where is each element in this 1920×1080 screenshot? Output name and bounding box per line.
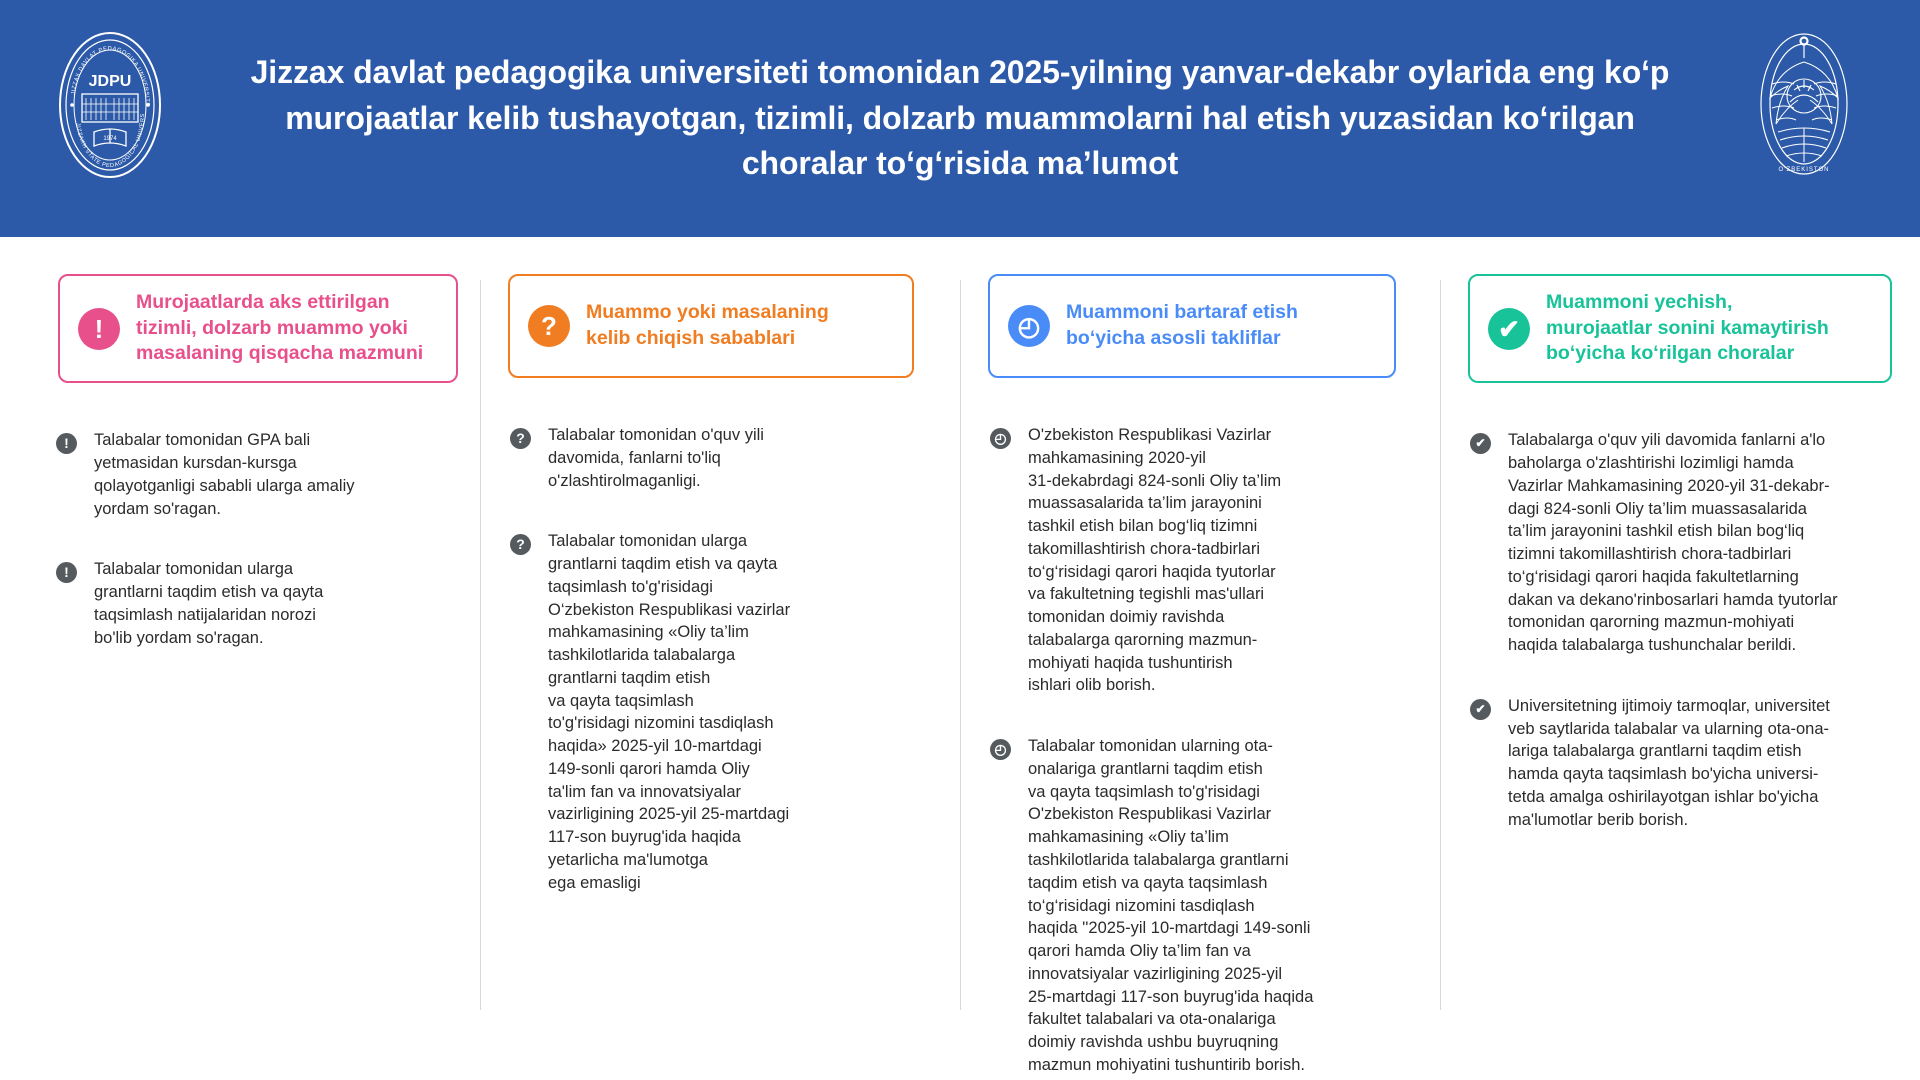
column-1: !Murojaatlarda aks ettirilgan tizimli, d… [0,274,480,1080]
uzbekistan-state-emblem-icon: O‘ZBEKISTON [1748,28,1860,180]
column-2: ?Muammo yoki masalaning kelib chiqish sa… [480,274,960,1080]
column-header-card-4[interactable]: ✔Muammoni yechish, murojaatlar sonini ka… [1468,274,1892,383]
column-items-1: !Talabalar tomonidan GPA bali yetmasidan… [0,383,480,649]
svg-text:JIZZAX DAVLAT PEDAGOGIKA UNIVE: JIZZAX DAVLAT PEDAGOGIKA UNIVERSITETI [56,30,150,107]
svg-text:1974: 1974 [103,136,117,142]
exclamation-icon: ! [56,433,77,454]
column-items-4: ✔Talabalarga o'quv yili davomida fanlarn… [1440,383,1920,831]
question-icon: ? [528,305,570,347]
list-item: ?Talabalar tomonidan o'quv yili davomida… [510,424,920,492]
column-items-3: ◴ O'zbekiston Respublikasi Vazirlar mahk… [960,378,1440,1077]
question-icon: ? [510,534,531,555]
column-title-4: Muammoni yechish, murojaatlar sonini kam… [1546,290,1829,367]
list-item-text: Talabalar tomonidan GPA bali yetmasidan … [94,429,355,520]
list-item-text: Talabalar tomonidan ularga grantlarni ta… [548,530,790,894]
check-circle-icon: ✔ [1470,699,1491,720]
column-title-2: Muammo yoki masalaning kelib chiqish sab… [586,300,829,351]
list-item: ◴ O'zbekiston Respublikasi Vazirlar mahk… [990,424,1410,697]
column-items-2: ?Talabalar tomonidan o'quv yili davomida… [480,378,960,895]
column-3: ◴Muammoni bartaraf etish bo‘yicha asosli… [960,274,1440,1080]
list-item: ✔ Universitetning ijtimoiy tarmoqlar, un… [1470,695,1892,832]
list-item: !Talabalar tomonidan GPA bali yetmasidan… [56,429,444,520]
page-title: Jizzax davlat pedagogika universiteti to… [220,50,1700,186]
clock-icon: ◴ [1008,305,1050,347]
column-divider [1440,280,1441,1010]
list-item: ? Talabalar tomonidan ularga grantlarni … [510,530,920,894]
list-item: !Talabalar tomonidan ularga grantlarni t… [56,558,444,649]
column-title-3: Muammoni bartaraf etish bo‘yicha asosli … [1066,300,1298,351]
content-board: !Murojaatlarda aks ettirilgan tizimli, d… [0,237,1920,1080]
check-circle-icon: ✔ [1488,308,1530,350]
column-header-card-1[interactable]: !Murojaatlarda aks ettirilgan tizimli, d… [58,274,458,383]
column-title-1: Murojaatlarda aks ettirilgan tizimli, do… [136,290,423,367]
list-item-text: Talabalar tomonidan ularga grantlarni ta… [94,558,323,649]
exclamation-icon: ! [78,308,120,350]
list-item-text: Universitetning ijtimoiy tarmoqlar, univ… [1508,695,1830,832]
column-divider [960,280,961,1010]
column-header-card-3[interactable]: ◴Muammoni bartaraf etish bo‘yicha asosli… [988,274,1396,378]
list-item-text: Talabalarga o'quv yili davomida fanlarni… [1508,429,1838,657]
list-item: ✔Talabalarga o'quv yili davomida fanlarn… [1470,429,1892,657]
question-icon: ? [510,428,531,449]
page-header: JDPU 1974 JIZZAX DAVLAT PEDAGOGIKA UNIVE… [0,0,1920,237]
svg-text:JDPU: JDPU [89,73,132,90]
clock-icon: ◴ [990,428,1011,449]
list-item-text: Talabalar tomonidan ularning ota- onalar… [1028,735,1313,1076]
column-4: ✔Muammoni yechish, murojaatlar sonini ka… [1440,274,1920,1080]
list-item-text: O'zbekiston Respublikasi Vazirlar mahkam… [1028,424,1281,697]
column-divider [480,280,481,1010]
list-item: ◴Talabalar tomonidan ularning ota- onala… [990,735,1410,1076]
check-circle-icon: ✔ [1470,433,1491,454]
svg-text:O‘ZBEKISTON: O‘ZBEKISTON [1779,167,1830,173]
exclamation-icon: ! [56,562,77,583]
jdpu-university-seal-icon: JDPU 1974 JIZZAX DAVLAT PEDAGOGIKA UNIVE… [56,30,164,180]
column-header-card-2[interactable]: ?Muammo yoki masalaning kelib chiqish sa… [508,274,914,378]
clock-icon: ◴ [990,739,1011,760]
list-item-text: Talabalar tomonidan o'quv yili davomida,… [548,424,764,492]
columns-container: !Murojaatlarda aks ettirilgan tizimli, d… [0,237,1920,1080]
